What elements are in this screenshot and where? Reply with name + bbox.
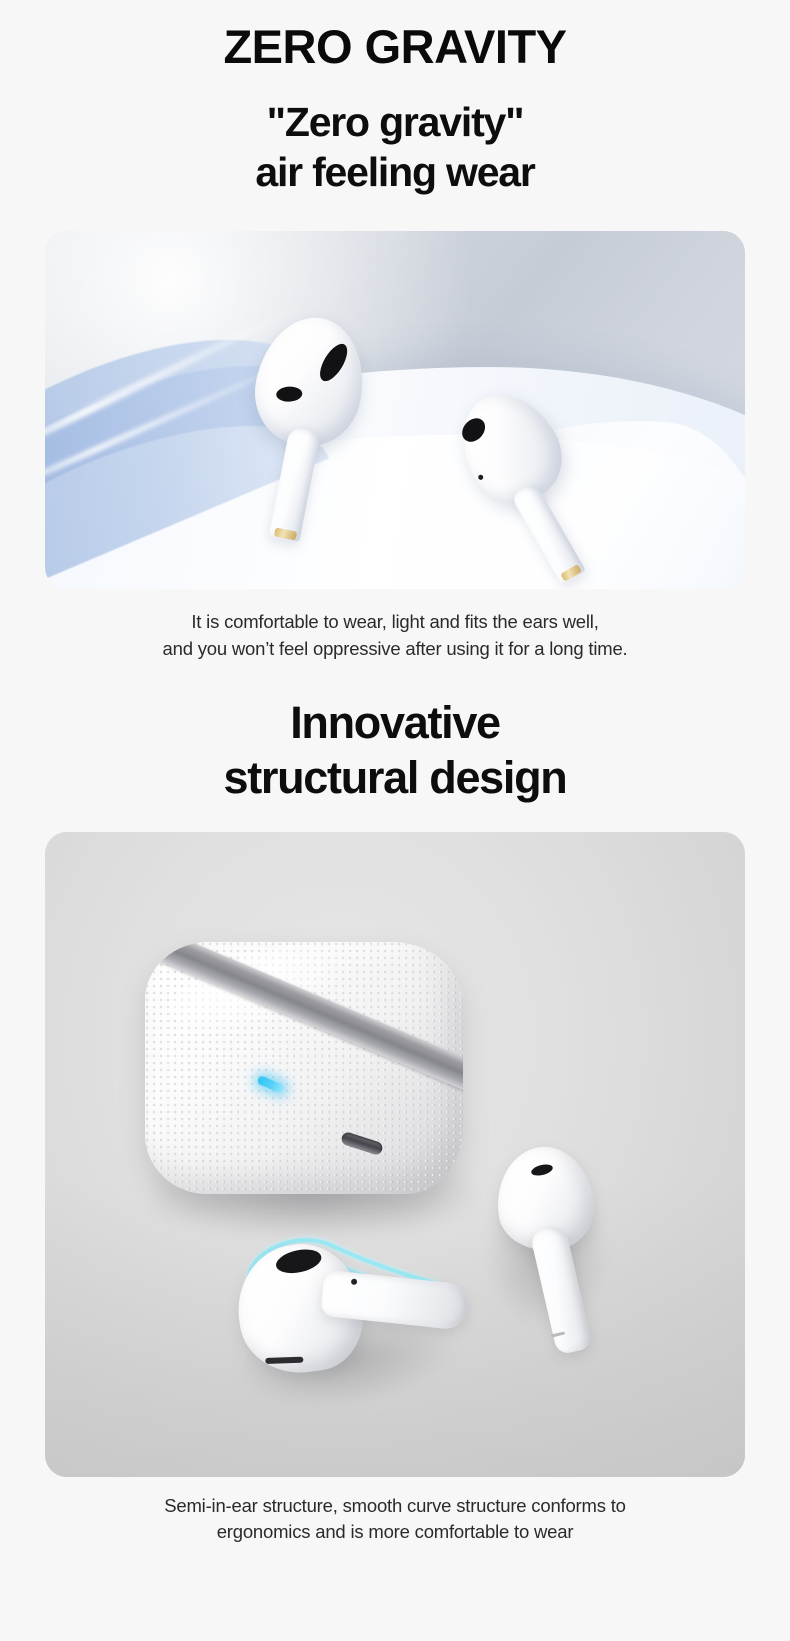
caption-line-2: ergonomics and is more comfortable to we… [0, 1519, 790, 1545]
subheadline-line-2: air feeling wear [0, 147, 790, 197]
caption-line-1: Semi-in-ear structure, smooth curve stru… [0, 1493, 790, 1519]
charging-case [145, 942, 475, 1242]
section-headline-line-1: Innovative [0, 696, 790, 751]
hero-image-case-and-earbuds [45, 832, 745, 1477]
caption-line-1: It is comfortable to wear, light and fit… [0, 609, 790, 635]
product-detail-page: ZERO GRAVITY "Zero gravity" air feeling … [0, 0, 790, 1641]
caption-line-2: and you won’t feel oppressive after usin… [0, 636, 790, 662]
earbud-right-upright [495, 1147, 645, 1367]
case-body [145, 942, 463, 1194]
section-headline-line-2: structural design [0, 751, 790, 806]
page-title: ZERO GRAVITY [0, 22, 790, 71]
earbud-front-glowing [229, 1212, 482, 1422]
earbud-ear-tip [265, 1356, 303, 1363]
hero-image-floating-earbuds [45, 231, 745, 589]
subheadline-line-1: "Zero gravity" [0, 97, 790, 147]
section-zero-gravity: ZERO GRAVITY "Zero gravity" air feeling … [0, 0, 790, 662]
section-innovative-design: Innovative structural design [0, 662, 790, 1545]
